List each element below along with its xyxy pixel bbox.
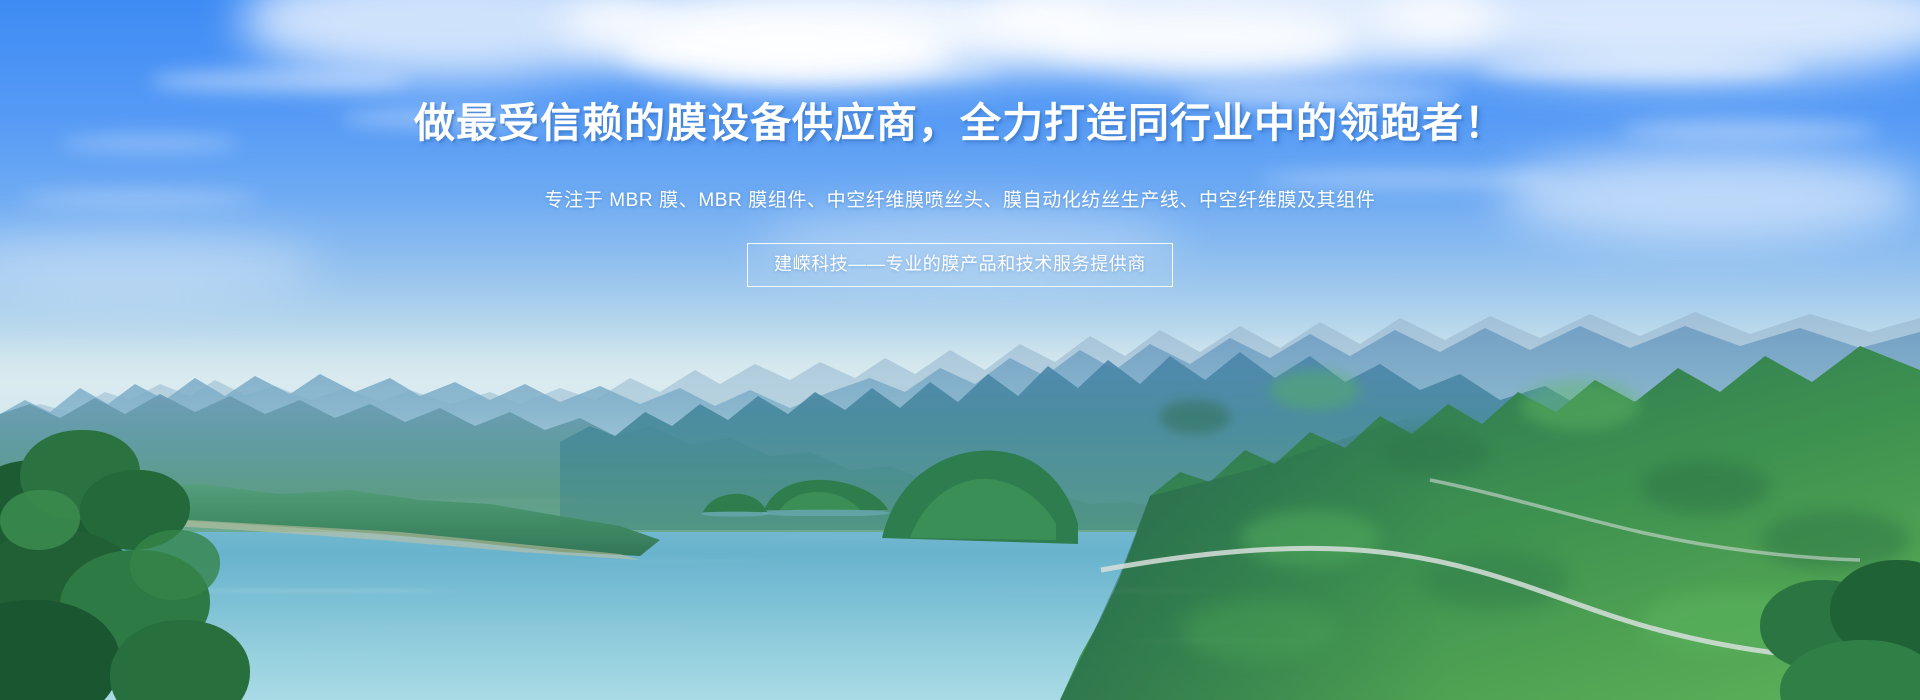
hero-banner: 做最受信赖的膜设备供应商，全力打造同行业中的领跑者！ 专注于 MBR 膜、MBR…	[0, 0, 1920, 700]
foreground-foliage	[0, 430, 280, 700]
banner-headline: 做最受信赖的膜设备供应商，全力打造同行业中的领跑者！	[0, 100, 1920, 147]
banner-tagline: 建嵘科技——专业的膜产品和技术服务提供商	[747, 243, 1173, 287]
foreground-foliage-right	[1760, 560, 1920, 700]
wooded-islet-peninsula	[880, 440, 1080, 550]
banner-subtitle: 专注于 MBR 膜、MBR 膜组件、中空纤维膜喷丝头、膜自动化纺丝生产线、中空纤…	[0, 187, 1920, 216]
wooded-islet-large	[760, 470, 890, 516]
wooded-islet-small	[700, 486, 770, 518]
banner-tagline-wrapper: 建嵘科技——专业的膜产品和技术服务提供商	[0, 243, 1920, 287]
